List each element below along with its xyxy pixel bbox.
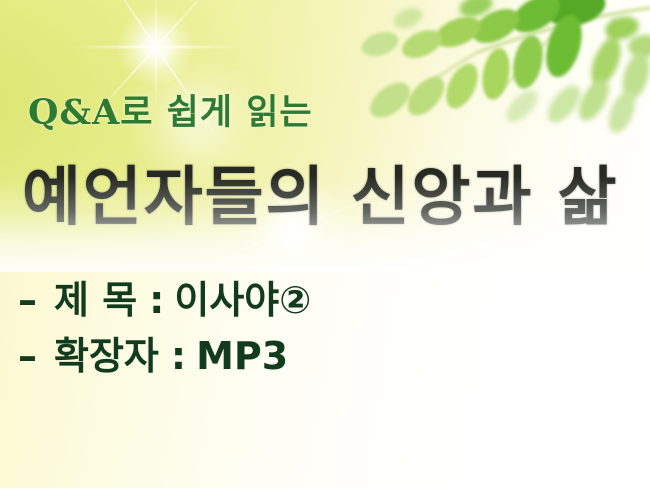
detail-label-title: 제 목 bbox=[54, 281, 137, 319]
slide-canvas: Q&A로 쉽게 읽는 예언자들의 신앙과 삶 – 제 목 : 이사야② – 확장… bbox=[0, 0, 650, 488]
detail-label-filetype: 확장자 bbox=[54, 337, 159, 375]
banner-kicker-text: Q&A로 쉽게 읽는 bbox=[28, 84, 313, 135]
leaf-branch-decoration bbox=[350, 0, 650, 160]
detail-row-filetype: – 확장자 : MP3 bbox=[18, 337, 630, 375]
bullet-dash-icon: – bbox=[18, 337, 48, 375]
detail-value-filetype: MP3 bbox=[196, 337, 288, 375]
detail-list: – 제 목 : 이사야② – 확장자 : MP3 bbox=[18, 281, 630, 375]
detail-row-title: – 제 목 : 이사야② bbox=[18, 281, 630, 319]
detail-value-title: 이사야② bbox=[174, 281, 311, 319]
banner-bottom-fade bbox=[0, 176, 650, 272]
detail-separator-title: : bbox=[137, 281, 174, 319]
bullet-dash-icon: – bbox=[18, 281, 48, 319]
title-banner: Q&A로 쉽게 읽는 예언자들의 신앙과 삶 bbox=[0, 0, 650, 272]
detail-separator-filetype: : bbox=[159, 337, 196, 375]
